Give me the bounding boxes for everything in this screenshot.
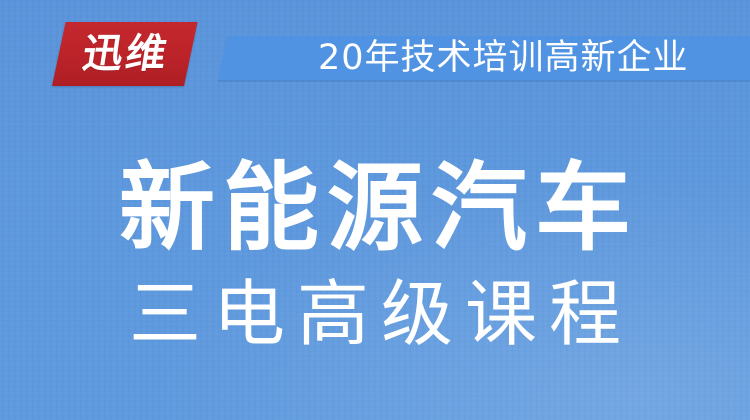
promo-banner: 迅维 20年技术培训高新企业 新能源汽车 三电高级课程 [0, 0, 750, 420]
tagline-text: 20年技术培训高新企业 [318, 36, 689, 80]
banner-header: 迅维 20年技术培训高新企业 [0, 0, 750, 110]
title-block: 新能源汽车 三电高级课程 [0, 160, 750, 350]
sub-title: 三电高级课程 [0, 278, 750, 350]
brand-logo-text: 迅维 [55, 22, 197, 86]
main-title: 新能源汽车 [0, 160, 750, 256]
